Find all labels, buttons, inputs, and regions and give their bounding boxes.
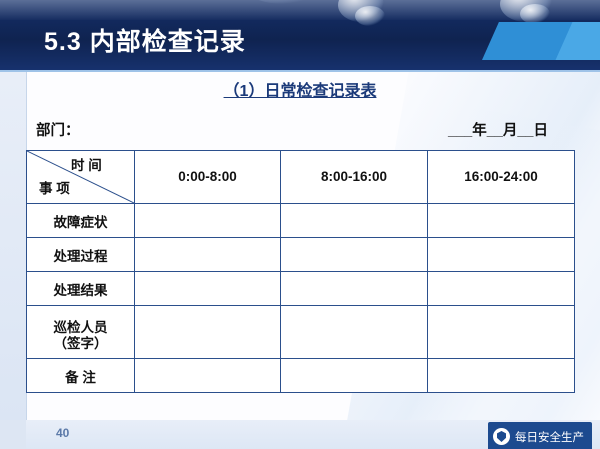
cell-fault-symptom-2[interactable] <box>428 204 575 238</box>
table-row: 处理过程 <box>27 238 575 272</box>
left-decoration-band <box>0 72 26 420</box>
column-header-label: 16:00-24:00 <box>428 151 574 203</box>
row-header-remarks: 备 注 <box>27 359 135 393</box>
table-row: 备 注 <box>27 359 575 393</box>
column-header-label: 0:00-8:00 <box>135 151 280 203</box>
department-date-row: 部门： ___年__月__日 <box>36 119 566 141</box>
shield-icon <box>493 428 510 445</box>
cell-remarks-2[interactable] <box>428 359 575 393</box>
daily-inspection-table: 时 间 事 项 0:00-8:00 8:00-16:00 16:00-24:00… <box>26 150 575 393</box>
cell-handling-result-0[interactable] <box>135 272 281 306</box>
cell-inspector-2[interactable] <box>428 306 575 359</box>
corner-item-label: 事 项 <box>39 177 70 197</box>
table-row: 巡检人员 （签字） <box>27 306 575 359</box>
cell-handling-process-1[interactable] <box>281 238 428 272</box>
cell-fault-symptom-1[interactable] <box>281 204 428 238</box>
page-title: 5.3 内部检查记录 <box>44 22 246 58</box>
watermark-label: 每日安全生产 <box>515 429 584 445</box>
slide-root: 5.3 内部检查记录 （1）日常检查记录表 部门： ___年__月__日 <box>0 0 600 449</box>
table-corner-cell: 时 间 事 项 <box>27 151 135 204</box>
department-label: 部门： <box>36 119 80 140</box>
row-header-inspector-signature: 巡检人员 （签字） <box>27 306 135 359</box>
row-header-handling-result: 处理结果 <box>27 272 135 306</box>
cell-handling-result-1[interactable] <box>281 272 428 306</box>
corner-time-label: 时 间 <box>71 154 102 174</box>
page-number: 40 <box>56 426 69 440</box>
row-header-inspector-line2: （签字） <box>27 336 134 352</box>
slide-header-banner: 5.3 内部检查记录 <box>0 0 600 72</box>
column-header-2: 16:00-24:00 <box>428 151 575 204</box>
row-header-handling-process: 处理过程 <box>27 238 135 272</box>
banner-light-blob <box>520 4 550 24</box>
column-header-1: 8:00-16:00 <box>281 151 428 204</box>
cell-handling-result-2[interactable] <box>428 272 575 306</box>
column-header-label: 8:00-16:00 <box>281 151 427 203</box>
table-row: 处理结果 <box>27 272 575 306</box>
slide-footer: 40 每日安全生产 <box>0 420 600 449</box>
slide-body: （1）日常检查记录表 部门： ___年__月__日 时 间 <box>0 72 600 420</box>
table-header-row: 时 间 事 项 0:00-8:00 8:00-16:00 16:00-24:00 <box>27 151 575 204</box>
column-header-0: 0:00-8:00 <box>135 151 281 204</box>
row-header-inspector-line1: 巡检人员 <box>27 312 134 336</box>
cell-remarks-1[interactable] <box>281 359 428 393</box>
banner-light-blob <box>355 6 385 26</box>
cell-handling-process-2[interactable] <box>428 238 575 272</box>
cell-inspector-1[interactable] <box>281 306 428 359</box>
footer-left-accent <box>0 420 26 449</box>
cell-fault-symptom-0[interactable] <box>135 204 281 238</box>
cell-inspector-0[interactable] <box>135 306 281 359</box>
cell-handling-process-0[interactable] <box>135 238 281 272</box>
watermark-badge: 每日安全生产 <box>488 422 592 449</box>
date-blank-label: ___年__月__日 <box>448 119 548 140</box>
row-header-fault-symptom: 故障症状 <box>27 204 135 238</box>
cell-remarks-0[interactable] <box>135 359 281 393</box>
section-subtitle: （1）日常检查记录表 <box>0 77 600 101</box>
table-row: 故障症状 <box>27 204 575 238</box>
